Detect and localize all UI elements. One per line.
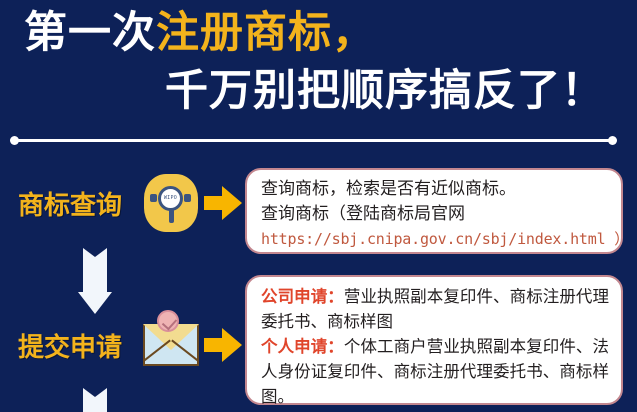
callout-2-entry-2-prefix: 个人申请： [261, 337, 344, 356]
magnifier-tab-left-icon [150, 194, 157, 202]
infographic-canvas: 第一次注册商标， 千万别把顺序搞反了！ 商标查询 WIPO [0, 0, 637, 412]
flow-arrow-down-2-icon [78, 388, 112, 412]
magnifier-lens-icon: WIPO [158, 186, 183, 211]
step-row-1: 商标查询 WIPO [0, 168, 246, 238]
flow-arrow-down-1-icon [78, 248, 112, 314]
magnifier-lens-label: WIPO [161, 195, 180, 201]
divider-bar [17, 139, 610, 142]
callout-2-entry-1: 公司申请：营业执照副本复印件、商标注册代理委托书、商标样图 [261, 284, 609, 334]
divider [10, 136, 617, 145]
callout-1-line-2: 查询商标（登陆商标局官网 [261, 202, 609, 227]
envelope-icon [140, 310, 202, 380]
page-title: 第一次注册商标， 千万别把顺序搞反了！ [0, 4, 637, 120]
callout-2-entry-2: 个人申请：个体工商户营业执照副本复印件、法人身份证复印件、商标注册代理委托书、商… [261, 334, 609, 409]
step-1-label: 商标查询 [0, 185, 140, 222]
title-line-2: 千万别把顺序搞反了！ [0, 62, 637, 120]
title-line-1: 第一次注册商标， [0, 4, 637, 62]
envelope-check-badge-icon [157, 310, 179, 332]
step-2-label: 提交申请 [0, 327, 140, 364]
title-line-1-yellow: 注册商标， [156, 8, 376, 58]
divider-dot-right-icon [608, 136, 617, 145]
magnifier-tab-right-icon [184, 194, 191, 202]
callout-2-entry-1-prefix: 公司申请： [261, 287, 344, 306]
step-row-2: 提交申请 [0, 310, 246, 380]
callout-1-line-1: 查询商标，检索是否有近似商标。 [261, 177, 609, 202]
callout-step-2: 公司申请：营业执照副本复印件、商标注册代理委托书、商标样图 个人申请：个体工商户… [245, 275, 623, 405]
step-2-arrow-right-icon [202, 328, 246, 362]
callout-step-1: 查询商标，检索是否有近似商标。 查询商标（登陆商标局官网 https://sbj… [245, 168, 623, 254]
step-1-arrow-right-icon [202, 186, 246, 220]
magnifier-icon: WIPO [140, 168, 202, 238]
magnifier-handle-icon [169, 209, 174, 223]
title-line-1-white: 第一次 [24, 8, 156, 58]
trademark-office-url[interactable]: https://sbj.cnipa.gov.cn/sbj/index.html … [261, 227, 609, 251]
